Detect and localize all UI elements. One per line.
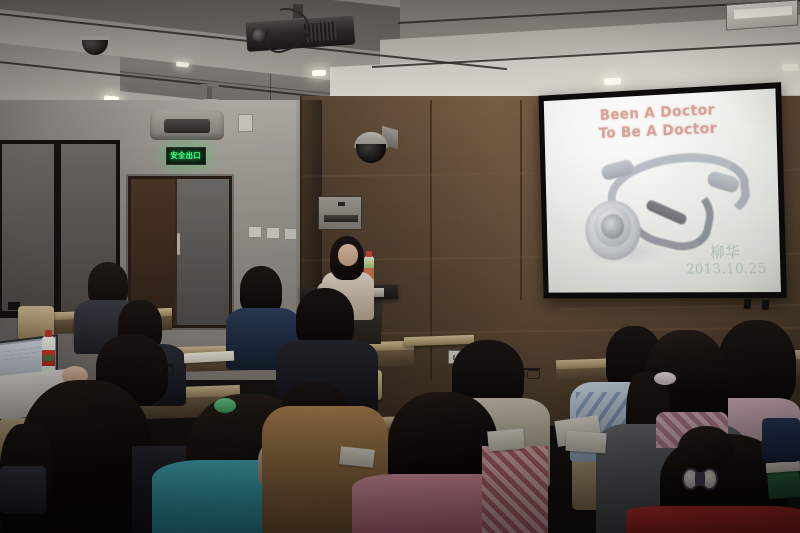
bottle-cap: [45, 330, 52, 337]
emergency-exit-sign: 安全出口: [166, 147, 206, 165]
projection-screen: Been A Doctor To Be A Doctor 柳华 2013.10.…: [538, 82, 786, 298]
screen-mount-tab: [743, 299, 751, 310]
eyeglasses-icon: [148, 364, 174, 373]
wall-outlet[interactable]: [284, 228, 297, 240]
student-plaid-shirt: [482, 446, 548, 533]
wall-control-panel[interactable]: [318, 196, 362, 230]
downlight: [782, 64, 798, 72]
wall-outlet[interactable]: [248, 226, 262, 238]
blind-pane-left: [2, 144, 54, 314]
speaker-face: [338, 244, 358, 266]
downlight: [604, 78, 621, 86]
presenter-name: 柳华: [686, 244, 767, 261]
door-handle[interactable]: [177, 233, 180, 255]
camera-dome: [356, 144, 386, 163]
wall-air-conditioner: [150, 110, 224, 140]
screen-surface: Been A Doctor To Be A Doctor 柳华 2013.10.…: [544, 88, 781, 292]
bag: [0, 466, 46, 514]
wall-switch[interactable]: [238, 114, 253, 132]
bow-hair-clip: [682, 468, 718, 490]
door-leaf-right: [177, 179, 229, 325]
wood-panel-seam: [520, 100, 522, 300]
bottle-cap: [366, 251, 372, 257]
panel-switch-bar: [324, 215, 358, 222]
panel-led: [338, 202, 345, 206]
presentation-date: 2013.10.25: [686, 260, 767, 279]
lecture-hall-photo: 安全出口 Been A Doctor To Be A Doctor: [0, 0, 800, 533]
hair-bun: [678, 426, 734, 470]
green-notebook: [767, 471, 800, 499]
papers-on-desk: [565, 431, 606, 454]
student-head: [296, 288, 354, 348]
papers-on-desk: [339, 446, 375, 467]
slide-title: Been A Doctor To Be A Doctor: [544, 97, 777, 144]
screen-mount-tab: [761, 300, 769, 311]
bow-knot: [695, 472, 705, 486]
wall-outlet[interactable]: [266, 227, 280, 239]
exit-sign-label: 安全出口: [171, 152, 202, 159]
student-head: [718, 320, 796, 410]
student-red-jacket: [626, 506, 800, 533]
window-mullion: [54, 140, 61, 318]
ceiling-dome-camera-icon: [78, 36, 112, 56]
ceiling-projector: [245, 2, 360, 56]
slide-signature: 柳华 2013.10.25: [686, 244, 767, 279]
hair-tie: [654, 372, 676, 385]
wall-ptz-camera-icon: [352, 124, 398, 168]
bottle-label-stripe: [43, 355, 54, 361]
hair-tie: [214, 398, 236, 413]
downlight: [312, 70, 326, 77]
camera-dome: [82, 40, 108, 55]
student-head: [240, 266, 282, 314]
papers-on-desk: [487, 428, 525, 451]
ac-vent-slot: [164, 119, 210, 133]
navy-backpack: [762, 418, 800, 462]
eyeglasses-icon: [512, 368, 540, 377]
